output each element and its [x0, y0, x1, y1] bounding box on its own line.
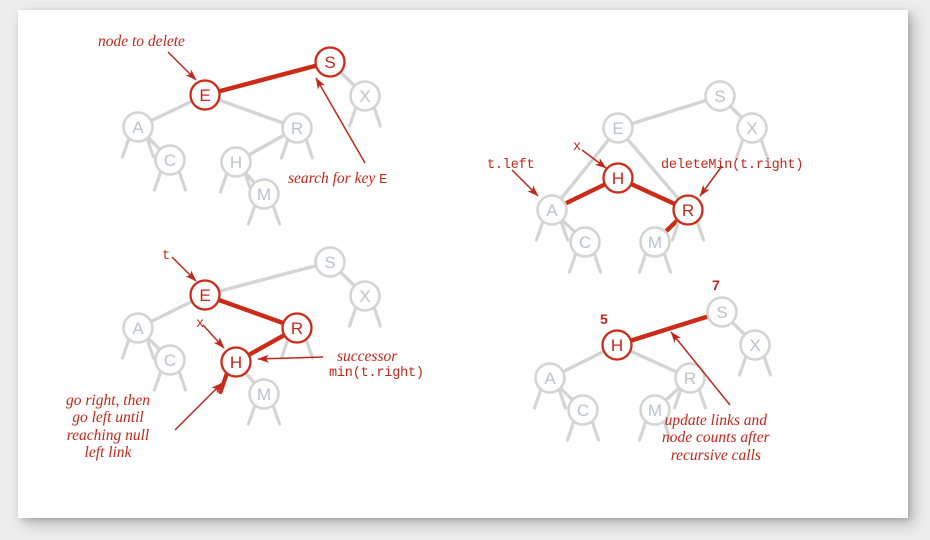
note-line: recursive calls [662, 447, 770, 464]
note-line: left link [66, 444, 150, 461]
successor: successor [337, 348, 397, 365]
note-line: node counts after [662, 429, 770, 446]
x-pointer: x [573, 140, 581, 155]
update-links-note: update links andnode counts afterrecursi… [662, 412, 770, 464]
t-pointer: t [162, 249, 170, 264]
go-right-note: go right, thengo left untilreaching null… [66, 392, 150, 461]
white-slide-panel [18, 10, 908, 518]
search-for-key: search for key E [288, 170, 387, 188]
note-line: go right, then [66, 392, 150, 409]
figure-canvas: ESXARCHMSEXHARCMESXARCHMSXHARCM node to … [0, 0, 930, 540]
x-pointer: x [196, 317, 204, 332]
label-prose: search for key [288, 170, 379, 187]
min-t-right: min(t.right) [329, 366, 424, 381]
note-line: reaching null [66, 427, 150, 444]
note-line: go left until [66, 409, 150, 426]
t-left: t.left [487, 158, 534, 173]
delete-min: deleteMin(t.right) [661, 158, 803, 173]
count-5: 5 [600, 312, 608, 328]
count-7: 7 [712, 278, 720, 294]
label-code: E [379, 173, 387, 188]
note-line: update links and [662, 412, 770, 429]
node-to-delete: node to delete [98, 33, 185, 50]
